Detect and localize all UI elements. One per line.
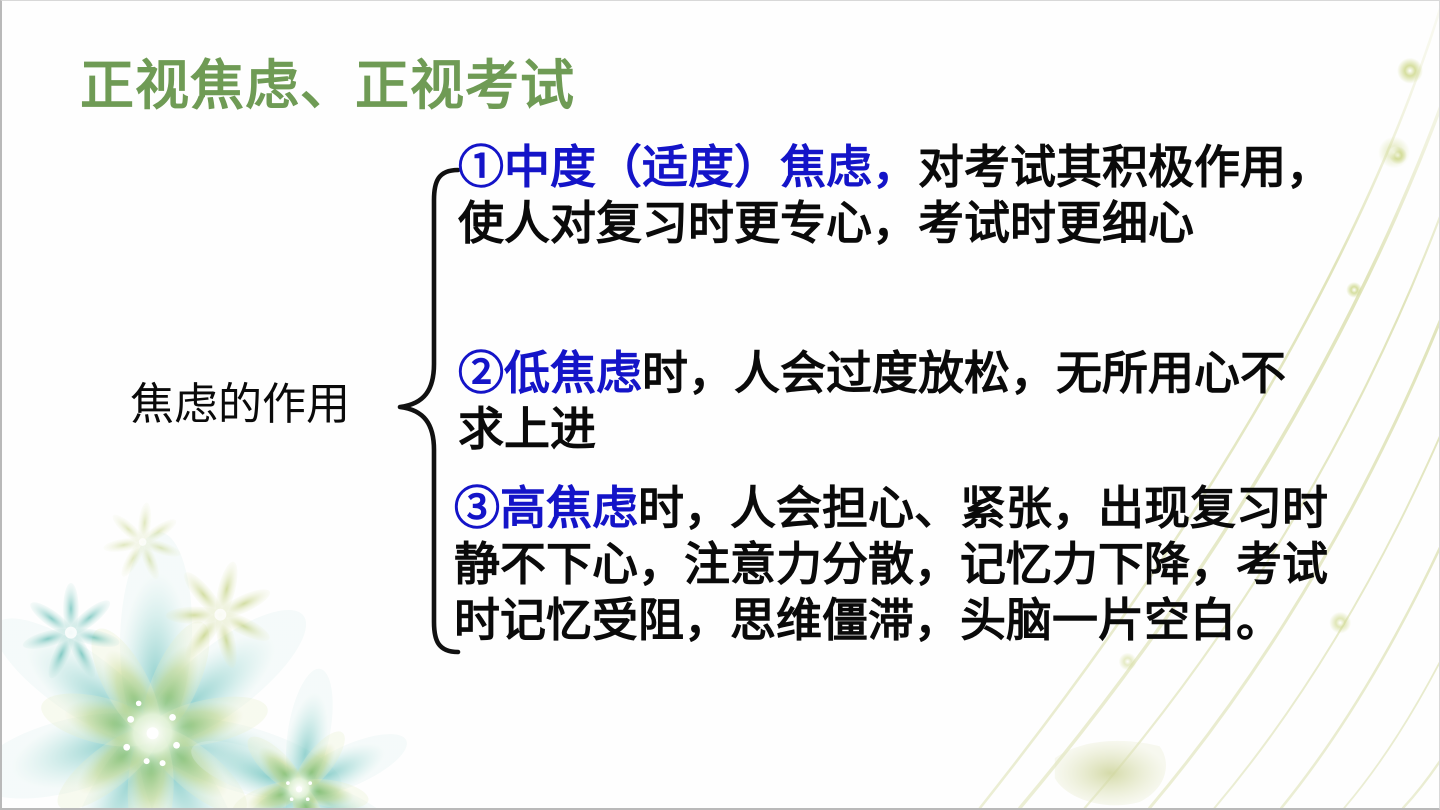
item-2-line-1: ②低焦虑时，人会过度放松，无所用心不 — [458, 346, 1388, 402]
slide-canvas: 正视焦虑、正视考试 焦虑的作用 ①中度（适度）焦虑，对考试其积极作用， 使人对复… — [0, 0, 1440, 810]
diagram-item-2: ②低焦虑时，人会过度放松，无所用心不 求上进 — [458, 346, 1388, 458]
item-3-line-3: 时记忆受阻，思维僵滞，头脑一片空白。 — [454, 593, 1394, 649]
diagram-item-1: ①中度（适度）焦虑，对考试其积极作用， 使人对复习时更专心，考试时更细心 — [458, 140, 1388, 252]
item-3-line-2: 静不下心，注意力分散，记忆力下降，考试 — [454, 537, 1394, 593]
item-3-rest: 时，人会担心、紧张，出现复习时 — [638, 483, 1328, 534]
item-2-rest: 时，人会过度放松，无所用心不 — [642, 348, 1286, 399]
item-1-line-2: 使人对复习时更专心，考试时更细心 — [458, 196, 1388, 252]
diagram-item-3: ③高焦虑时，人会担心、紧张，出现复习时 静不下心，注意力分散，记忆力下降，考试 … — [454, 481, 1394, 649]
item-2-line-2: 求上进 — [458, 402, 1388, 458]
mini-flower-pale — [102, 502, 182, 581]
page-title: 正视焦虑、正视考试 — [80, 56, 575, 116]
mini-flower-teal — [21, 583, 121, 681]
flower-large — [2, 531, 350, 808]
item-1-highlight: ①中度（适度）焦虑， — [458, 142, 918, 193]
item-3-line-1: ③高焦虑时，人会担心、紧张，出现复习时 — [454, 481, 1394, 537]
leaf-blot — [1055, 741, 1166, 805]
flower-small — [185, 665, 415, 808]
diagram-root-label: 焦虑的作用 — [130, 379, 350, 431]
item-1-rest: 对考试其积极作用， — [918, 142, 1332, 193]
item-3-highlight: ③高焦虑 — [454, 483, 638, 534]
item-1-line-1: ①中度（适度）焦虑，对考试其积极作用， — [458, 140, 1388, 196]
mini-flower-olive — [166, 560, 274, 670]
item-2-highlight: ②低焦虑 — [458, 348, 642, 399]
